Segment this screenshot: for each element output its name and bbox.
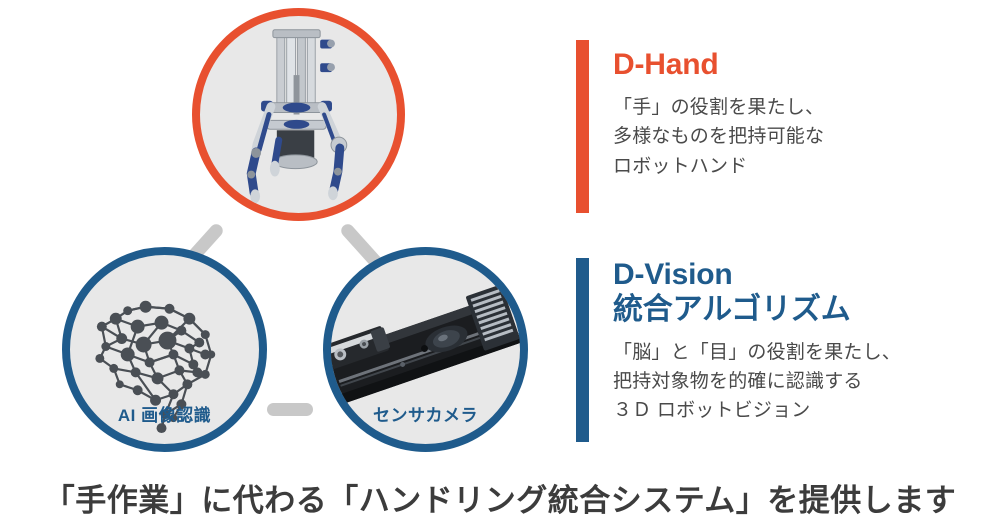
desc-line: ロボットハンド bbox=[613, 152, 824, 181]
triad-diagram: AI 画像認識 bbox=[0, 0, 560, 462]
feature-block-d-vision: D-Vision 統合アルゴリズム 「脳」と「目」の役割を果たし、 把持対象物を… bbox=[576, 258, 901, 442]
feature-description-d-hand: 「手」の役割を果たし、 多様なものを把持可能な ロボットハンド bbox=[613, 93, 824, 181]
node-sensor-camera[interactable]: センサカメラ bbox=[323, 247, 528, 452]
tagline-banner: 「手作業」に代わる「ハンドリング統合システム」を提供します bbox=[0, 466, 1000, 528]
desc-line: 「手」の役割を果たし、 bbox=[613, 93, 824, 122]
feature-title-d-hand: D-Hand bbox=[613, 48, 824, 83]
accent-bar-d-hand bbox=[576, 40, 589, 213]
feature-title-d-vision: D-Vision 統合アルゴリズム bbox=[613, 258, 901, 328]
feature-title-line2: 統合アルゴリズム bbox=[613, 293, 901, 328]
node-ai-image-recognition[interactable]: AI 画像認識 bbox=[62, 247, 267, 452]
desc-line: 多様なものを把持可能な bbox=[613, 122, 824, 151]
feature-panel: D-Hand 「手」の役割を果たし、 多様なものを把持可能な ロボットハンド D… bbox=[576, 0, 1000, 462]
node-d-hand[interactable] bbox=[192, 8, 405, 221]
feature-description-d-vision: 「脳」と「目」の役割を果たし、 把持対象物を的確に認識する ３Ｄ ロボットビジョ… bbox=[613, 338, 901, 426]
robot-hand-photo bbox=[200, 16, 397, 213]
desc-line: 把持対象物を的確に認識する bbox=[613, 367, 901, 396]
desc-line: ３Ｄ ロボットビジョン bbox=[613, 396, 901, 425]
feature-title-line1: D-Vision bbox=[613, 258, 901, 293]
connector-ai-to-camera bbox=[267, 403, 313, 416]
node-label-ai-image-recognition: AI 画像認識 bbox=[70, 401, 259, 426]
feature-block-d-hand: D-Hand 「手」の役割を果たし、 多様なものを把持可能な ロボットハンド bbox=[576, 40, 824, 213]
tagline-text: 「手作業」に代わる「ハンドリング統合システム」を提供します bbox=[44, 475, 957, 520]
desc-line: 「脳」と「目」の役割を果たし、 bbox=[613, 338, 901, 367]
node-label-sensor-camera: センサカメラ bbox=[331, 401, 520, 426]
accent-bar-d-vision bbox=[576, 258, 589, 442]
